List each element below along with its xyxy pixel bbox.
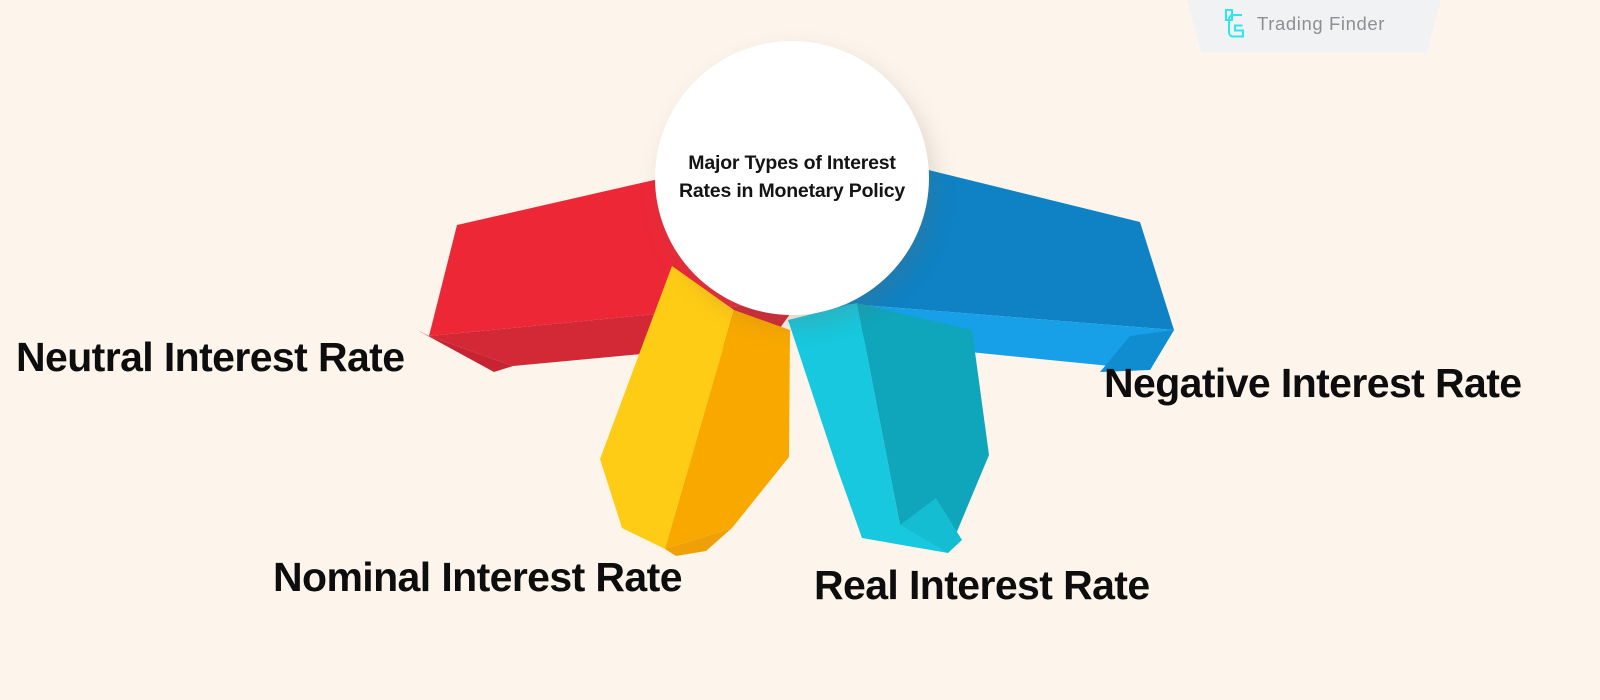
page-title: Major Types of Interest Rates in Monetar… — [667, 150, 917, 205]
label-negative-interest-rate: Negative Interest Rate — [1104, 360, 1521, 407]
watermark-brand-text: Trading Finder — [1257, 13, 1385, 35]
infographic-canvas: Major Types of Interest Rates in Monetar… — [0, 0, 1600, 700]
label-nominal-interest-rate: Nominal Interest Rate — [273, 554, 682, 601]
label-real-interest-rate: Real Interest Rate — [814, 562, 1150, 609]
ribbon-real[interactable] — [788, 303, 989, 553]
watermark-brand[interactable]: Trading Finder — [1222, 4, 1385, 44]
label-neutral-interest-rate: Neutral Interest Rate — [16, 334, 404, 381]
center-hub: Major Types of Interest Rates in Monetar… — [655, 41, 929, 315]
trading-finder-monogram-icon — [1222, 8, 1248, 40]
